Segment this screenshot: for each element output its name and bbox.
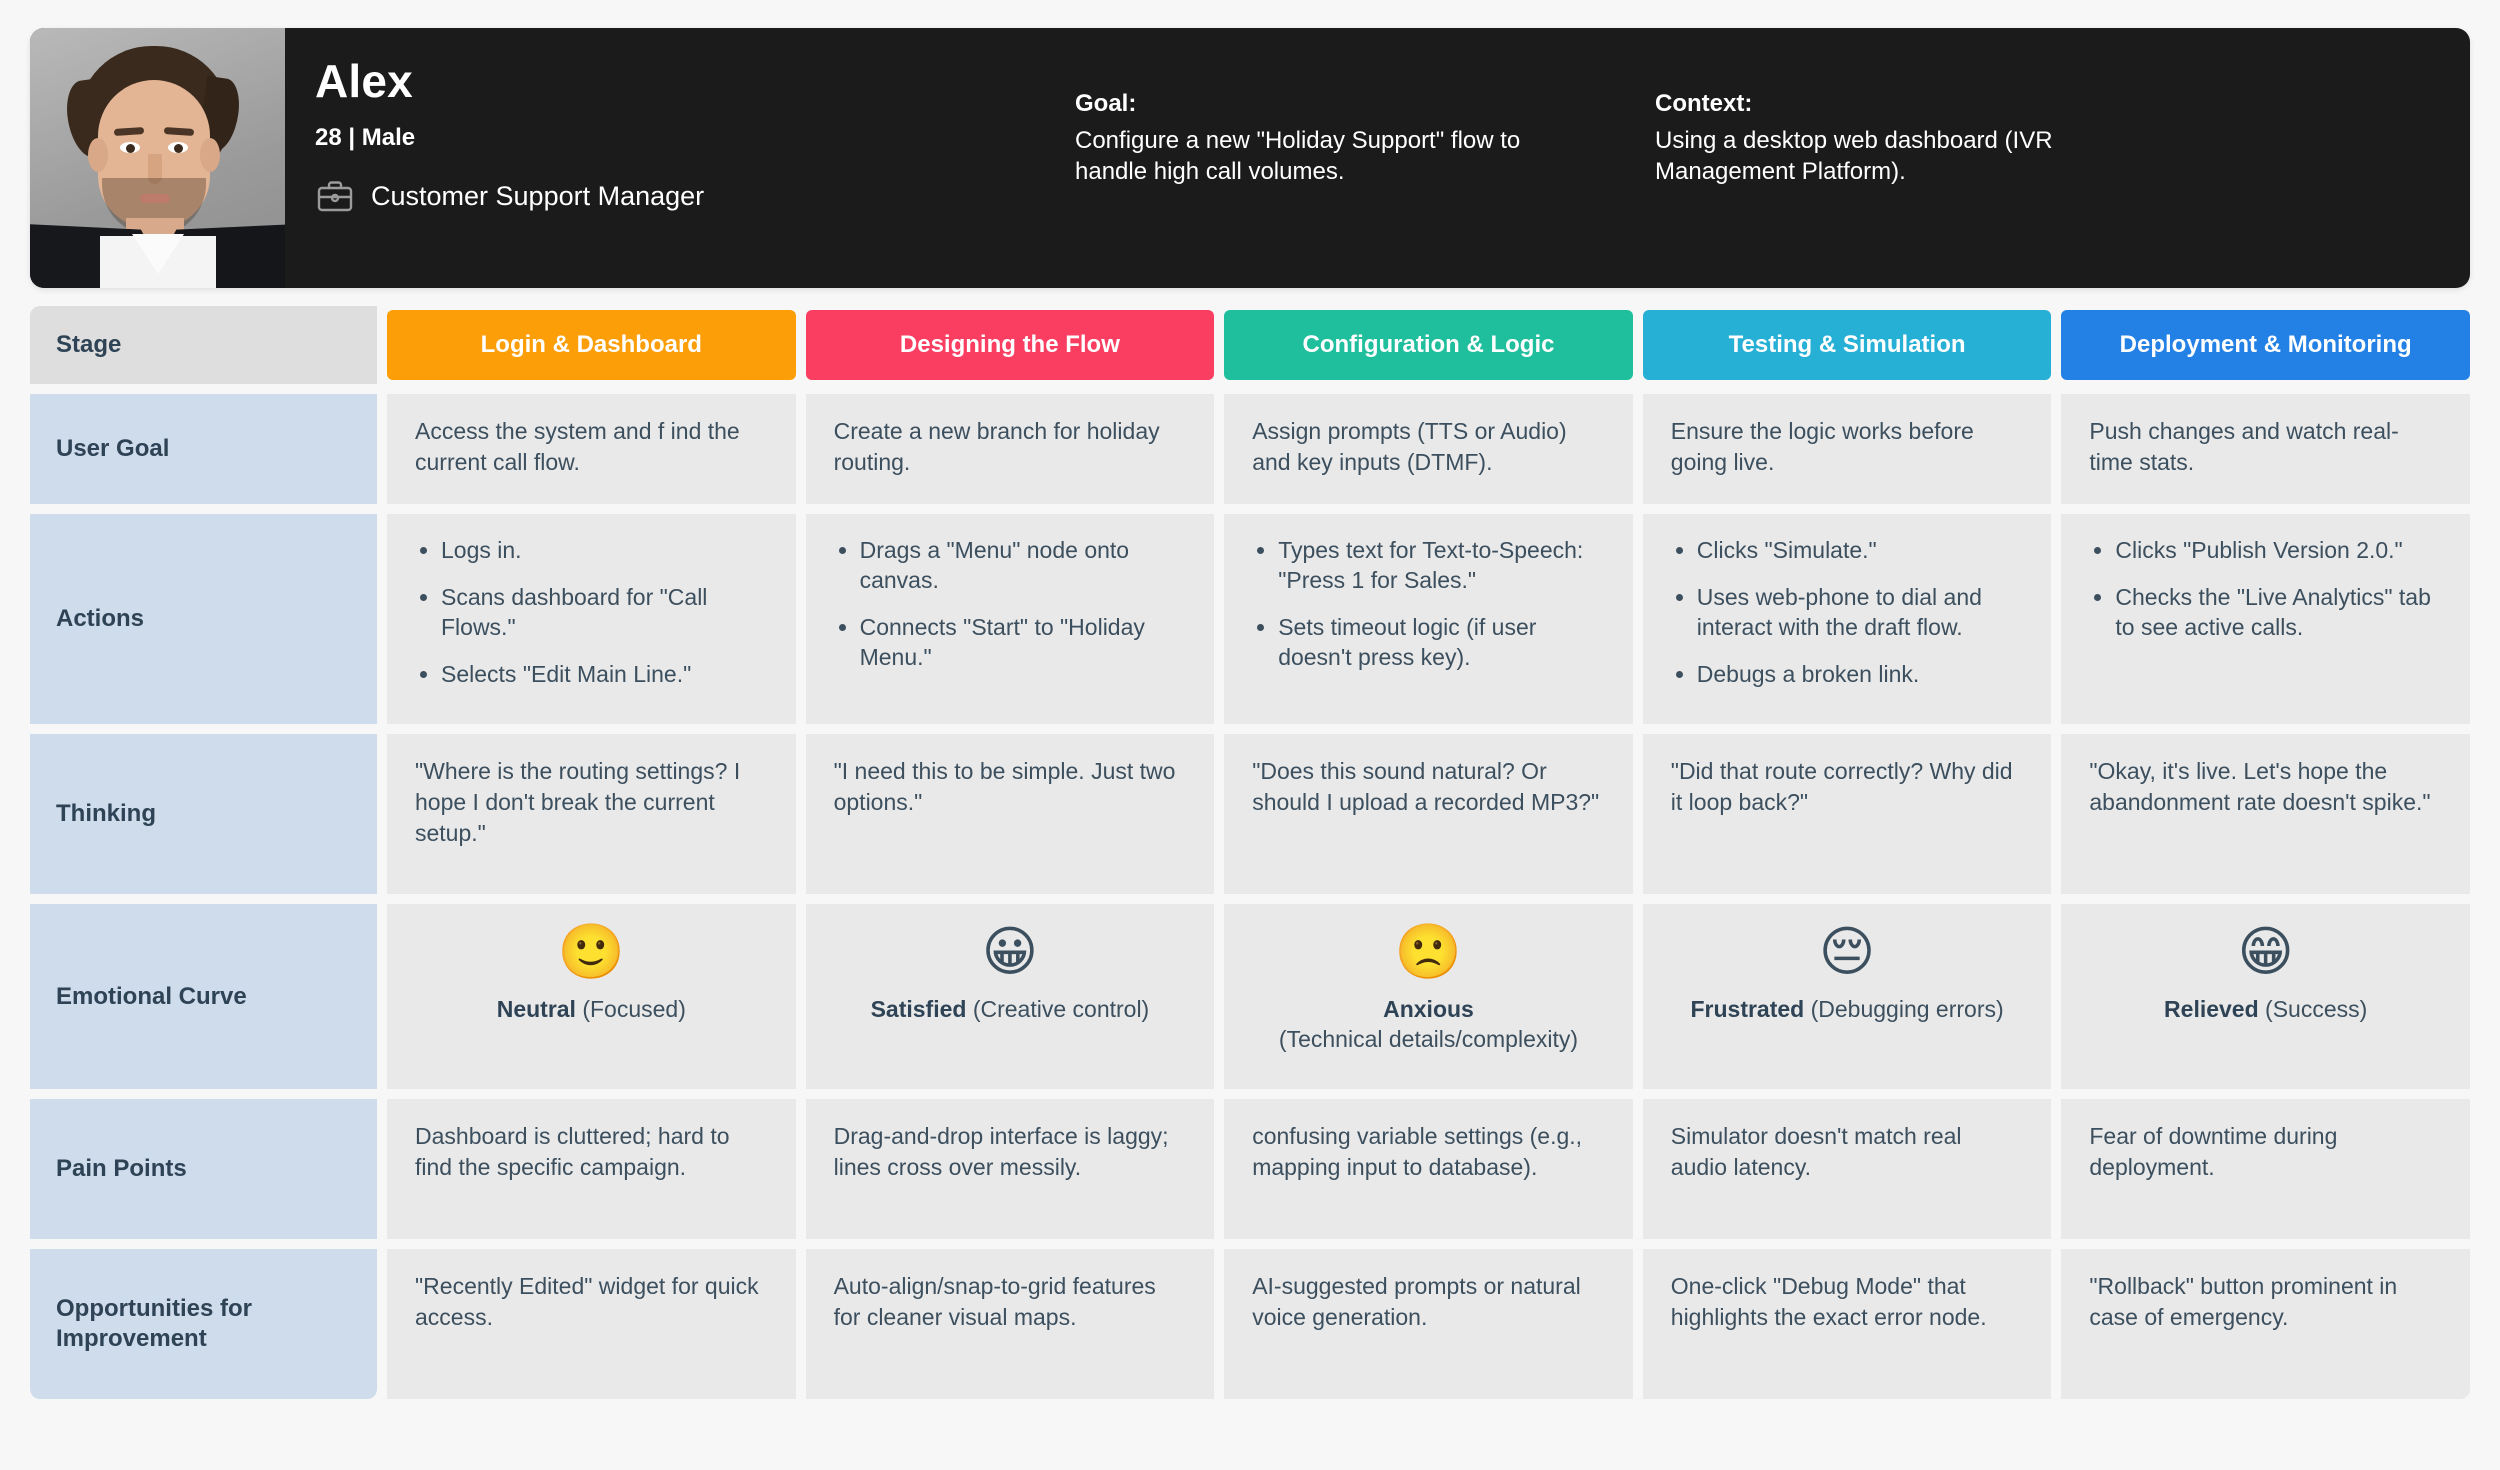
stage-tab-label: Deployment & Monitoring bbox=[2120, 331, 2412, 359]
list-item: Scans dashboard for "Call Flows." bbox=[441, 583, 768, 643]
journey-map-board: Alex 28 | Male Customer Support Manager … bbox=[30, 28, 2470, 1399]
list-item: Drags a "Menu" node onto canvas. bbox=[860, 536, 1187, 596]
cell-user-goal-3: Ensure the logic works before going live… bbox=[1643, 394, 2052, 504]
emotion-caption: Anxious(Technical details/complexity) bbox=[1279, 995, 1578, 1055]
beaming-face-emoji: 😁 bbox=[2238, 924, 2294, 981]
row-emotional-curve: Emotional Curve 🙂 Neutral (Focused) 😀 Sa… bbox=[30, 904, 2470, 1089]
emotion-note: (Focused) bbox=[582, 996, 686, 1022]
emotion-caption: Relieved (Success) bbox=[2164, 995, 2367, 1025]
cell-emotion-3: 😔 Frustrated (Debugging errors) bbox=[1643, 904, 2052, 1089]
cell-actions-0: Logs in.Scans dashboard for "Call Flows.… bbox=[387, 514, 796, 724]
cell-pain-1: Drag-and-drop interface is laggy; lines … bbox=[806, 1099, 1215, 1239]
journey-grid: Stage Login & Dashboard Designing the Fl… bbox=[30, 306, 2470, 1399]
pensive-face-emoji: 😔 bbox=[1819, 924, 1875, 981]
stage-tab-deployment-monitoring[interactable]: Deployment & Monitoring bbox=[2061, 310, 2470, 380]
emotion-note: (Creative control) bbox=[973, 996, 1149, 1022]
cell-pain-0: Dashboard is cluttered; hard to find the… bbox=[387, 1099, 796, 1239]
emotion-note: (Technical details/complexity) bbox=[1279, 1026, 1578, 1052]
actions-list: Types text for Text-to-Speech: "Press 1 … bbox=[1252, 536, 1605, 673]
cell-pain-4: Fear of downtime during deployment. bbox=[2061, 1099, 2470, 1239]
cell-opportunity-3: One-click "Debug Mode" that highlights t… bbox=[1643, 1249, 2052, 1399]
emotion-name: Frustrated bbox=[1690, 996, 1804, 1022]
stage-tab-label: Testing & Simulation bbox=[1729, 331, 1966, 359]
row-opportunities: Opportunities for Improvement "Recently … bbox=[30, 1249, 2470, 1399]
persona-goal-context: Goal: Configure a new "Holiday Support" … bbox=[1075, 28, 2125, 288]
stage-tab-label: Login & Dashboard bbox=[481, 331, 702, 359]
context-label: Context: bbox=[1655, 90, 2125, 118]
row-label-pain-points: Pain Points bbox=[30, 1099, 377, 1239]
row-label-actions: Actions bbox=[30, 514, 377, 724]
row-label-thinking: Thinking bbox=[30, 734, 377, 894]
emotion-name: Neutral bbox=[497, 996, 576, 1022]
cell-actions-4: Clicks "Publish Version 2.0."Checks the … bbox=[2061, 514, 2470, 724]
cell-opportunity-1: Auto-align/snap-to-grid features for cle… bbox=[806, 1249, 1215, 1399]
row-thinking: Thinking "Where is the routing settings?… bbox=[30, 734, 2470, 894]
emotion-name: Satisfied bbox=[871, 996, 967, 1022]
row-label-user-goal: User Goal bbox=[30, 394, 377, 504]
cell-user-goal-0: Access the system and f ind the current … bbox=[387, 394, 796, 504]
persona-age-gender: 28 | Male bbox=[315, 124, 1075, 152]
stage-tab-testing-simulation[interactable]: Testing & Simulation bbox=[1643, 310, 2052, 380]
actions-list: Clicks "Publish Version 2.0."Checks the … bbox=[2089, 536, 2442, 643]
persona-role-row: Customer Support Manager bbox=[315, 178, 1075, 214]
stage-tab-designing-the-flow[interactable]: Designing the Flow bbox=[806, 310, 1215, 380]
stage-tab-label: Configuration & Logic bbox=[1303, 331, 1555, 359]
cell-thinking-1: "I need this to be simple. Just two opti… bbox=[806, 734, 1215, 894]
cell-thinking-3: "Did that route correctly? Why did it lo… bbox=[1643, 734, 2052, 894]
emotion-name: Relieved bbox=[2164, 996, 2259, 1022]
emotion-caption: Frustrated (Debugging errors) bbox=[1690, 995, 2003, 1025]
emotion-name: Anxious bbox=[1383, 996, 1474, 1022]
goal-label: Goal: bbox=[1075, 90, 1545, 118]
cell-opportunity-0: "Recently Edited" widget for quick acces… bbox=[387, 1249, 796, 1399]
stage-tab-label: Designing the Flow bbox=[900, 331, 1120, 359]
persona-header: Alex 28 | Male Customer Support Manager … bbox=[30, 28, 2470, 288]
actions-list: Logs in.Scans dashboard for "Call Flows.… bbox=[415, 536, 768, 690]
cell-user-goal-1: Create a new branch for holiday routing. bbox=[806, 394, 1215, 504]
stage-row-label: Stage bbox=[30, 306, 377, 384]
list-item: Logs in. bbox=[441, 536, 768, 566]
briefcase-icon bbox=[315, 178, 355, 214]
row-label-emotional-curve: Emotional Curve bbox=[30, 904, 377, 1089]
cell-user-goal-4: Push changes and watch real-time stats. bbox=[2061, 394, 2470, 504]
row-actions: Actions Logs in.Scans dashboard for "Cal… bbox=[30, 514, 2470, 724]
list-item: Clicks "Simulate." bbox=[1697, 536, 2024, 566]
list-item: Selects "Edit Main Line." bbox=[441, 660, 768, 690]
cell-pain-2: confusing variable settings (e.g., mappi… bbox=[1224, 1099, 1633, 1239]
slightly-frowning-face-emoji: 🙁 bbox=[1395, 924, 1462, 981]
emotion-note: (Debugging errors) bbox=[1811, 996, 2004, 1022]
emotion-note: (Success) bbox=[2265, 996, 2367, 1022]
cell-opportunity-2: AI-suggested prompts or natural voice ge… bbox=[1224, 1249, 1633, 1399]
grinning-face-emoji: 😀 bbox=[982, 924, 1038, 981]
persona-role-label: Customer Support Manager bbox=[371, 181, 704, 212]
row-user-goal: User Goal Access the system and f ind th… bbox=[30, 394, 2470, 504]
avatar bbox=[30, 28, 285, 288]
list-item: Types text for Text-to-Speech: "Press 1 … bbox=[1278, 536, 1605, 596]
cell-emotion-1: 😀 Satisfied (Creative control) bbox=[806, 904, 1215, 1089]
cell-thinking-0: "Where is the routing settings? I hope I… bbox=[387, 734, 796, 894]
emotion-caption: Neutral (Focused) bbox=[497, 995, 686, 1025]
cell-thinking-2: "Does this sound natural? Or should I up… bbox=[1224, 734, 1633, 894]
row-pain-points: Pain Points Dashboard is cluttered; hard… bbox=[30, 1099, 2470, 1239]
cell-actions-3: Clicks "Simulate."Uses web-phone to dial… bbox=[1643, 514, 2052, 724]
stage-tab-configuration-logic[interactable]: Configuration & Logic bbox=[1224, 310, 1633, 380]
list-item: Uses web-phone to dial and interact with… bbox=[1697, 583, 2024, 643]
context-value: Using a desktop web dashboard (IVR Manag… bbox=[1655, 125, 2125, 187]
row-label-opportunities: Opportunities for Improvement bbox=[30, 1249, 377, 1399]
cell-pain-3: Simulator doesn't match real audio laten… bbox=[1643, 1099, 2052, 1239]
persona-name: Alex bbox=[315, 58, 1075, 104]
cell-emotion-2: 🙁 Anxious(Technical details/complexity) bbox=[1224, 904, 1633, 1089]
actions-list: Drags a "Menu" node onto canvas.Connects… bbox=[834, 536, 1187, 673]
cell-thinking-4: "Okay, it's live. Let's hope the abandon… bbox=[2061, 734, 2470, 894]
list-item: Sets timeout logic (if user doesn't pres… bbox=[1278, 613, 1605, 673]
list-item: Connects "Start" to "Holiday Menu." bbox=[860, 613, 1187, 673]
stage-header-row: Stage Login & Dashboard Designing the Fl… bbox=[30, 306, 2470, 384]
actions-list: Clicks "Simulate."Uses web-phone to dial… bbox=[1671, 536, 2024, 690]
cell-actions-2: Types text for Text-to-Speech: "Press 1 … bbox=[1224, 514, 1633, 724]
stage-tab-login-dashboard[interactable]: Login & Dashboard bbox=[387, 310, 796, 380]
list-item: Checks the "Live Analytics" tab to see a… bbox=[2115, 583, 2442, 643]
list-item: Debugs a broken link. bbox=[1697, 660, 2024, 690]
cell-emotion-0: 🙂 Neutral (Focused) bbox=[387, 904, 796, 1089]
goal-value: Configure a new "Holiday Support" flow t… bbox=[1075, 125, 1545, 187]
cell-actions-1: Drags a "Menu" node onto canvas.Connects… bbox=[806, 514, 1215, 724]
list-item: Clicks "Publish Version 2.0." bbox=[2115, 536, 2442, 566]
emotion-caption: Satisfied (Creative control) bbox=[871, 995, 1150, 1025]
cell-opportunity-4: "Rollback" button prominent in case of e… bbox=[2061, 1249, 2470, 1399]
slightly-smiling-face-emoji: 🙂 bbox=[558, 924, 625, 981]
cell-emotion-4: 😁 Relieved (Success) bbox=[2061, 904, 2470, 1089]
persona-context-block: Context: Using a desktop web dashboard (… bbox=[1655, 90, 2125, 288]
cell-user-goal-2: Assign prompts (TTS or Audio) and key in… bbox=[1224, 394, 1633, 504]
persona-info: Alex 28 | Male Customer Support Manager bbox=[285, 28, 1075, 288]
persona-goal-block: Goal: Configure a new "Holiday Support" … bbox=[1075, 90, 1545, 288]
